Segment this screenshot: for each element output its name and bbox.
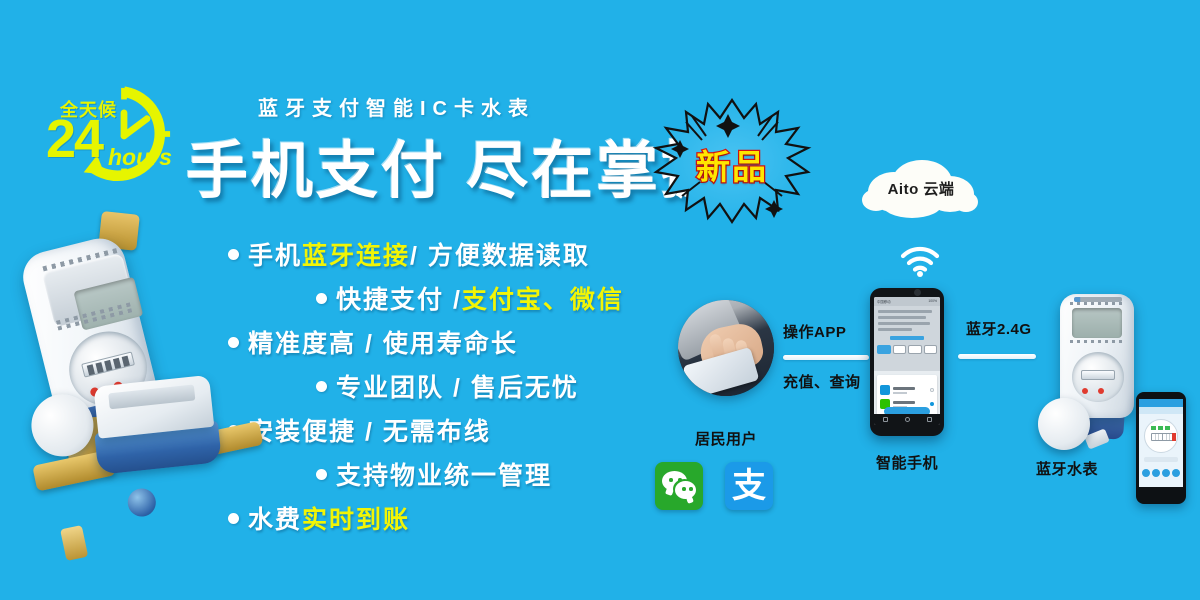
- radio-button[interactable]: [930, 402, 934, 406]
- action-tabs[interactable]: [877, 345, 937, 354]
- status-carrier: 中国移动: [877, 299, 891, 304]
- tab-open-valve[interactable]: [908, 345, 922, 354]
- app-action-icons[interactable]: [1142, 469, 1180, 477]
- lcd-display: [1072, 308, 1122, 338]
- poster-title: 手机支付 尽在掌握: [186, 120, 726, 210]
- smartphone-mock[interactable]: 中国移动 100%: [870, 288, 944, 436]
- cloud-label: Aito 云端: [860, 178, 982, 199]
- brass-nut: [60, 525, 88, 561]
- cloud-node: Aito 云端: [860, 158, 982, 220]
- user-node-label: 居民用户: [678, 428, 774, 449]
- link-bluetooth-label: 蓝牙2.4G: [966, 318, 1032, 339]
- badge-24-unit: hours: [108, 144, 172, 171]
- status-bar: 中国移动 100%: [874, 297, 940, 306]
- link-recharge-query-label: 充值、查询: [783, 371, 861, 392]
- feature-text-highlight: 支付宝、微信: [462, 280, 624, 316]
- feature-text-highlight: 蓝牙连接: [302, 236, 410, 272]
- progress-bar: [1144, 457, 1178, 462]
- meter-vents: [1070, 302, 1124, 305]
- feature-item: 精准度高 / 使用寿命长: [228, 320, 698, 364]
- link-operate-app-label: 操作APP: [783, 321, 846, 342]
- feature-text-highlight: 实时到账: [302, 500, 410, 536]
- dial-pointer: [1172, 433, 1176, 441]
- feature-text: 水费: [248, 500, 302, 536]
- connector-line: [958, 354, 1036, 359]
- meter-dial: [1072, 352, 1124, 402]
- phone-screen[interactable]: 中国移动 100%: [874, 297, 940, 425]
- app-subheader: [1139, 407, 1183, 414]
- home-icon[interactable]: [905, 417, 910, 422]
- meter-node-label: 蓝牙水表: [1036, 458, 1098, 479]
- bullet-dot: [316, 293, 327, 304]
- valve-knob: [126, 487, 157, 518]
- radio-button[interactable]: [930, 388, 934, 392]
- info-row: [878, 316, 926, 319]
- phone-info-panel: 中国移动 100%: [874, 297, 940, 371]
- action-icon[interactable]: [1142, 469, 1150, 477]
- device-info-rows: [878, 310, 932, 334]
- new-product-label: 新品: [652, 140, 812, 189]
- register-digits: [81, 351, 135, 377]
- feature-text: 精准度高 / 使用寿命长: [248, 324, 518, 360]
- connector-line: [783, 355, 869, 360]
- payment-method-card[interactable]: [877, 375, 937, 419]
- option-text: [893, 387, 927, 394]
- tab-close-valve[interactable]: [924, 345, 938, 354]
- left-product-photos: [0, 236, 250, 526]
- detail-link[interactable]: [890, 336, 924, 340]
- valve-water-meter-photo: [71, 367, 255, 524]
- status-dot: [1151, 426, 1156, 430]
- bubble-eye: [669, 478, 673, 482]
- bubble-eye: [678, 478, 682, 482]
- meter-gauge: [1144, 419, 1178, 453]
- protective-cap: [1038, 398, 1090, 450]
- meter-app-phone-photo[interactable]: [1136, 392, 1186, 504]
- feature-text: 支持物业统一管理: [336, 456, 552, 492]
- hand-holding-phone-photo: [678, 300, 774, 396]
- badge-24-number: 24: [46, 112, 102, 166]
- android-nav-bar[interactable]: [1139, 487, 1183, 496]
- phone-node-label: 智能手机: [876, 452, 938, 473]
- feature-text: 专业团队 / 售后无忧: [336, 368, 579, 404]
- back-icon[interactable]: [883, 417, 888, 422]
- info-row: [878, 328, 912, 331]
- payment-option-alipay[interactable]: [880, 384, 934, 396]
- recents-icon[interactable]: [927, 417, 932, 422]
- alipay-icon: [880, 385, 890, 395]
- feature-text: 手机: [248, 236, 302, 272]
- feature-text: 快捷支付 /: [336, 280, 462, 316]
- feature-item: 水费 实时到账: [228, 496, 698, 540]
- poster-canvas: 全天候 24 hours 蓝牙支付智能IC卡水表 手机支付 尽在掌握: [0, 0, 1200, 600]
- info-row: [878, 310, 932, 313]
- status-dot: [1165, 426, 1170, 430]
- bubble-eye: [682, 487, 686, 491]
- bubble-eye: [689, 487, 693, 491]
- wechat-icon[interactable]: [655, 462, 703, 510]
- dial-pointer: [1082, 388, 1088, 394]
- alipay-glyph: 支: [725, 462, 773, 510]
- feature-list: 手机 蓝牙连接 / 方便数据读取 快捷支付 / 支付宝、微信 精准度高 / 使用…: [228, 232, 698, 540]
- feature-item: 快捷支付 / 支付宝、微信: [228, 276, 698, 320]
- alipay-icon[interactable]: 支: [725, 462, 773, 510]
- android-nav-bar[interactable]: [874, 414, 940, 425]
- status-battery: 100%: [928, 299, 937, 303]
- action-icon[interactable]: [1152, 469, 1160, 477]
- tab-recharge[interactable]: [877, 345, 891, 354]
- badge-24-hours: 全天候 24 hours: [40, 82, 190, 186]
- feature-item: 安装便捷 / 无需布线: [228, 408, 698, 452]
- tab-query[interactable]: [893, 345, 907, 354]
- bullet-dot: [316, 469, 327, 480]
- wifi-icon: [898, 243, 942, 277]
- status-dot: [1158, 426, 1163, 430]
- phone-screen[interactable]: [1139, 399, 1183, 496]
- meter-window: [108, 384, 195, 409]
- register-digits: [1081, 370, 1115, 380]
- feature-item: 手机 蓝牙连接 / 方便数据读取: [228, 232, 698, 276]
- new-product-badge: 新品: [652, 96, 812, 224]
- action-icon[interactable]: [1172, 469, 1180, 477]
- app-header: [1139, 399, 1183, 407]
- feature-item: 专业团队 / 售后无忧: [228, 364, 698, 408]
- feature-item: 支持物业统一管理: [228, 452, 698, 496]
- feature-text: / 方便数据读取: [410, 236, 590, 272]
- action-icon[interactable]: [1162, 469, 1170, 477]
- info-row: [878, 322, 930, 325]
- meter-vents: [1070, 340, 1124, 347]
- feature-text: 安装便捷 / 无需布线: [248, 412, 491, 448]
- payment-app-icons: 支: [655, 462, 773, 510]
- camera-icon: [914, 289, 921, 296]
- register-digits: [1151, 433, 1173, 441]
- poster-subtitle: 蓝牙支付智能IC卡水表: [258, 92, 535, 121]
- dial-pointer: [1098, 388, 1104, 394]
- bullet-dot: [316, 381, 327, 392]
